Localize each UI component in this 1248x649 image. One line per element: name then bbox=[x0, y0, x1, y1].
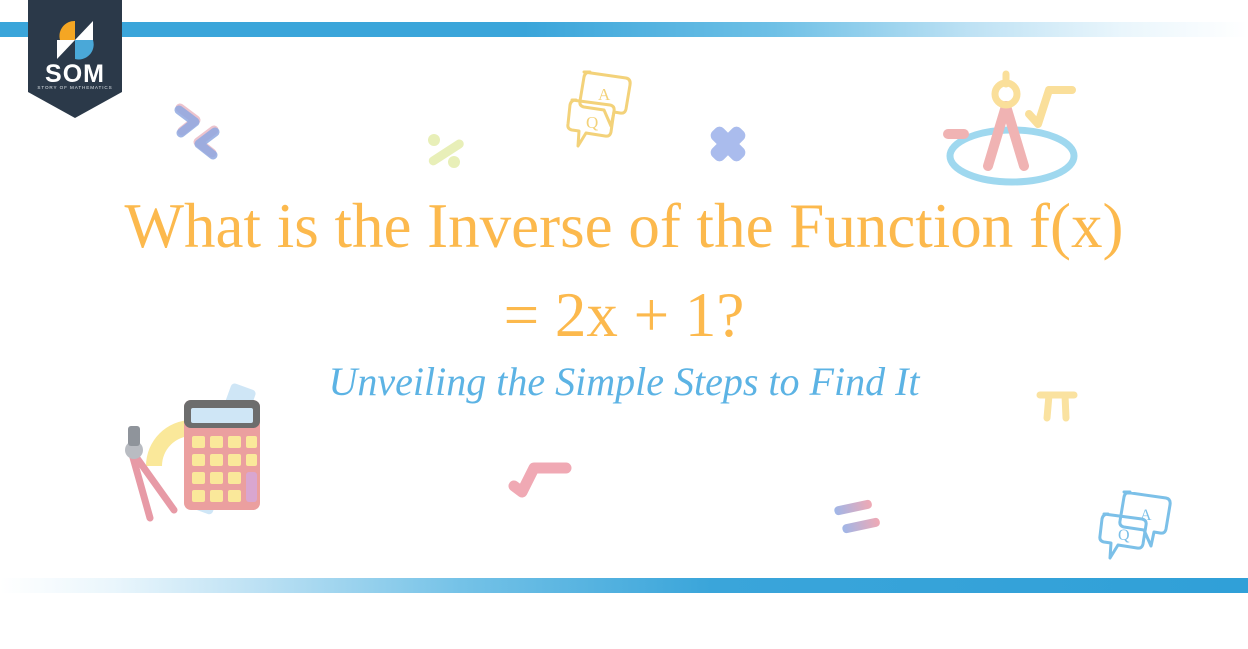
svg-text:Q: Q bbox=[586, 113, 598, 132]
equals-sign-icon bbox=[832, 495, 888, 541]
page-title: What is the Inverse of the Function f(x)… bbox=[0, 182, 1248, 361]
top-accent-bar bbox=[0, 22, 1248, 37]
chevrons-icon bbox=[170, 100, 230, 160]
svg-text:Q: Q bbox=[1118, 527, 1130, 544]
multiplication-cross-icon bbox=[706, 122, 750, 166]
header-card: SOM STORY OF MATHEMATICS bbox=[0, 0, 1248, 649]
square-root-pink-icon bbox=[508, 458, 574, 502]
som-logo-tagline: STORY OF MATHEMATICS bbox=[28, 86, 122, 91]
svg-text:A: A bbox=[598, 85, 611, 104]
svg-text:A: A bbox=[1140, 507, 1152, 524]
page-title-line-1: What is the Inverse of the Function f(x) bbox=[0, 182, 1248, 271]
division-sign-icon bbox=[422, 128, 470, 176]
som-logo-badge[interactable]: SOM STORY OF MATHEMATICS bbox=[28, 0, 122, 118]
page-title-line-2: = 2x + 1? bbox=[0, 271, 1248, 360]
page-subtitle: Unveiling the Simple Steps to Find It bbox=[0, 356, 1248, 408]
som-logo-mark-icon bbox=[53, 19, 97, 61]
qa-speech-bubbles-blue-icon: A Q bbox=[1090, 484, 1182, 564]
som-logo-wordmark: SOM bbox=[28, 62, 122, 87]
qa-speech-bubbles-yellow-icon: A Q bbox=[552, 56, 644, 148]
compass-and-ellipse-icon bbox=[930, 62, 1090, 192]
bottom-accent-bar bbox=[0, 578, 1248, 593]
